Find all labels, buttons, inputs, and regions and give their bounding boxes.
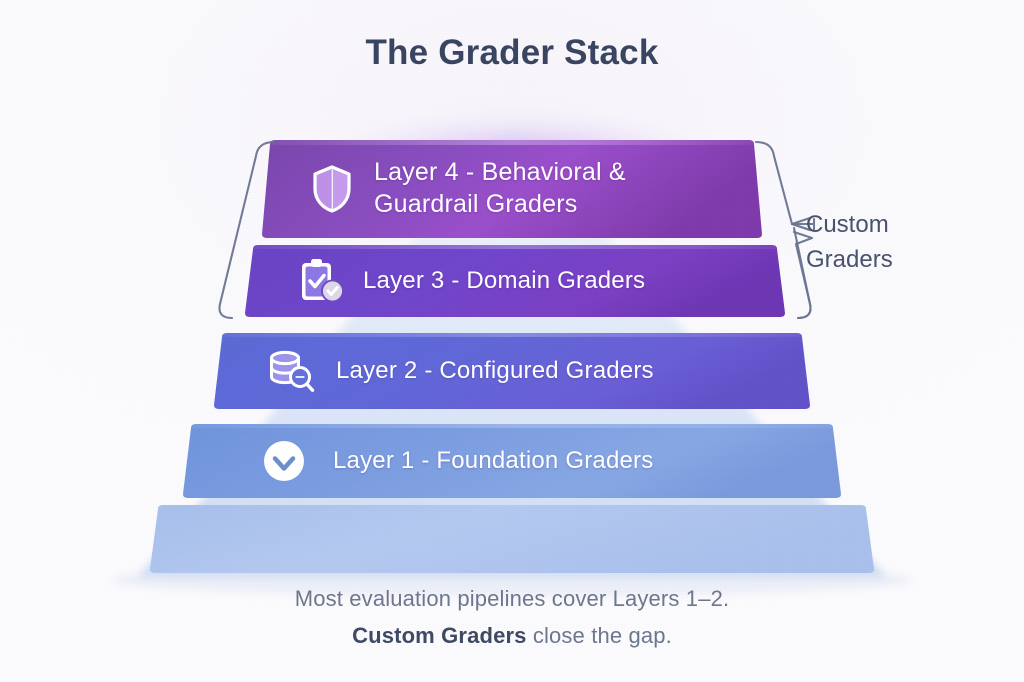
layer-4-label: Layer 4 - Behavioral & Guardrail Graders: [374, 157, 626, 221]
caption-line-2: Custom Graders close the gap.: [0, 623, 1024, 649]
layer-0-base-slab[interactable]: [150, 505, 874, 573]
layer-1-slab[interactable]: Layer 1 - Foundation Graders: [183, 424, 841, 498]
custom-graders-annotation: Custom Graders: [806, 208, 976, 278]
layer-2-label: Layer 2 - Configured Graders: [336, 356, 654, 386]
caption-line-1: Most evaluation pipelines cover Layers 1…: [0, 586, 1024, 612]
custom-graders-line1: Custom: [806, 208, 976, 243]
custom-graders-line2: Graders: [806, 243, 976, 278]
shield-icon: [308, 164, 356, 214]
clipboard-check-icon: [297, 256, 347, 306]
caption-strong: Custom Graders: [352, 623, 526, 648]
grader-stack-infographic: The Grader Stack: [0, 0, 1024, 682]
layer-2-slab[interactable]: Layer 2 - Configured Graders: [214, 333, 810, 409]
layer-3-label: Layer 3 - Domain Graders: [363, 266, 645, 296]
database-search-icon: [266, 347, 318, 395]
layer-4-slab[interactable]: Layer 4 - Behavioral & Guardrail Graders: [262, 140, 762, 238]
layer-0-shape: [150, 505, 874, 573]
check-circle-icon: [261, 438, 307, 484]
layer-3-slab[interactable]: Layer 3 - Domain Graders: [245, 245, 785, 317]
layer-1-label: Layer 1 - Foundation Graders: [333, 446, 653, 476]
caption-rest: close the gap.: [527, 623, 672, 648]
caption: Most evaluation pipelines cover Layers 1…: [0, 586, 1024, 649]
